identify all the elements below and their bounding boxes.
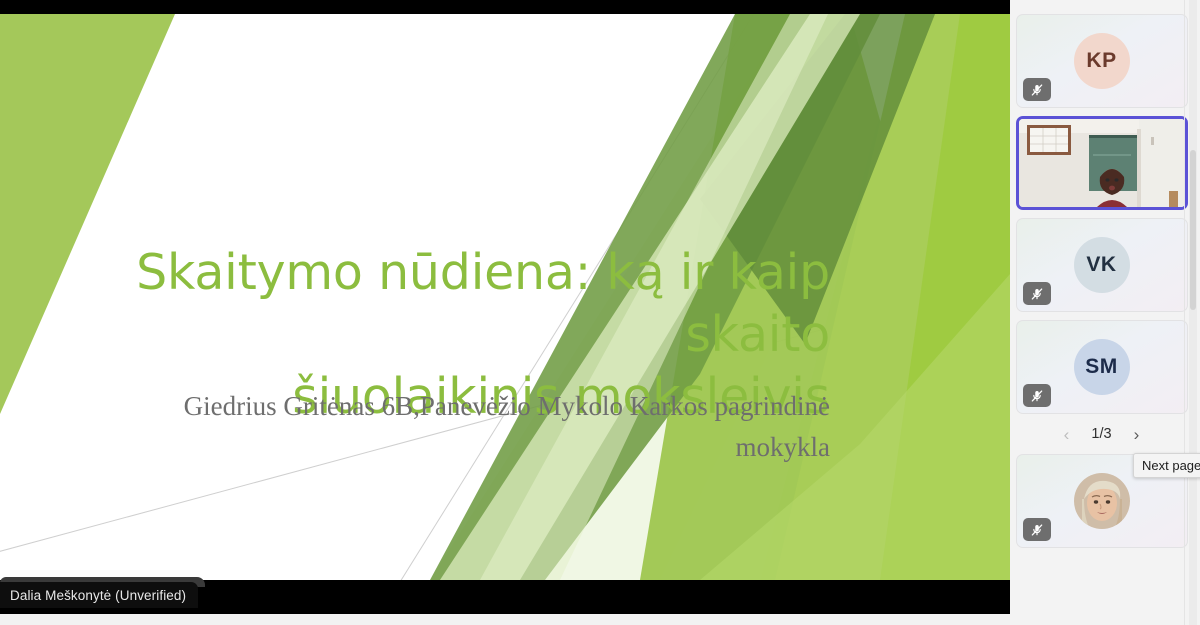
avatar-initials: SM bbox=[1085, 355, 1118, 379]
stage-bottom-gap bbox=[0, 614, 1010, 625]
mic-muted-icon bbox=[1023, 78, 1051, 101]
rail-scrollbar-track[interactable] bbox=[1189, 0, 1197, 625]
stage-top-letterbox bbox=[0, 0, 1010, 14]
previous-page-chevron-icon[interactable]: ‹ bbox=[1060, 425, 1074, 443]
mic-muted-icon bbox=[1023, 518, 1051, 541]
presenter-name-label: Dalia Meškonytė (Unverified) bbox=[0, 582, 198, 608]
avatar-photo-image bbox=[1074, 473, 1130, 529]
avatar-initials: KP bbox=[1086, 49, 1116, 73]
participant-pager: ‹ 1/3 › bbox=[1016, 422, 1188, 446]
mic-muted-icon bbox=[1023, 384, 1051, 407]
avatar bbox=[1074, 473, 1130, 529]
participant-tile-sm[interactable]: SM bbox=[1016, 320, 1188, 414]
page-indicator: 1/3 bbox=[1088, 426, 1116, 442]
participant-rail-list: KP bbox=[1010, 0, 1193, 625]
next-page-chevron-icon[interactable]: › bbox=[1130, 425, 1144, 443]
avatar: KP bbox=[1074, 33, 1130, 89]
participant-tile-kp[interactable]: KP bbox=[1016, 14, 1188, 108]
mic-muted-icon bbox=[1023, 282, 1051, 305]
avatar: SM bbox=[1074, 339, 1130, 395]
avatar-initials: VK bbox=[1086, 253, 1116, 277]
avatar: VK bbox=[1074, 237, 1130, 293]
slide-subtitle: Giedrius Gritėnas 6B,Panevėžio Mykolo Ka… bbox=[60, 386, 830, 468]
participant-rail[interactable]: KP bbox=[1010, 0, 1200, 625]
slide-text-block: Skaitymo nūdiena: ką ir kaip skaito šiuo… bbox=[0, 14, 1010, 580]
next-page-tooltip: Next page bbox=[1133, 453, 1200, 478]
conference-app: Skaitymo nūdiena: ką ir kaip skaito šiuo… bbox=[0, 0, 1200, 625]
participant-tile-vk[interactable]: VK bbox=[1016, 218, 1188, 312]
shared-screen-stage[interactable]: Skaitymo nūdiena: ką ir kaip skaito šiuo… bbox=[0, 0, 1010, 614]
video-feed bbox=[1019, 119, 1185, 207]
rail-divider bbox=[1184, 0, 1185, 625]
presentation-slide: Skaitymo nūdiena: ką ir kaip skaito šiuo… bbox=[0, 14, 1010, 580]
participant-tile-video-active-speaker[interactable] bbox=[1016, 116, 1188, 210]
rail-scrollbar-thumb[interactable] bbox=[1190, 150, 1196, 310]
